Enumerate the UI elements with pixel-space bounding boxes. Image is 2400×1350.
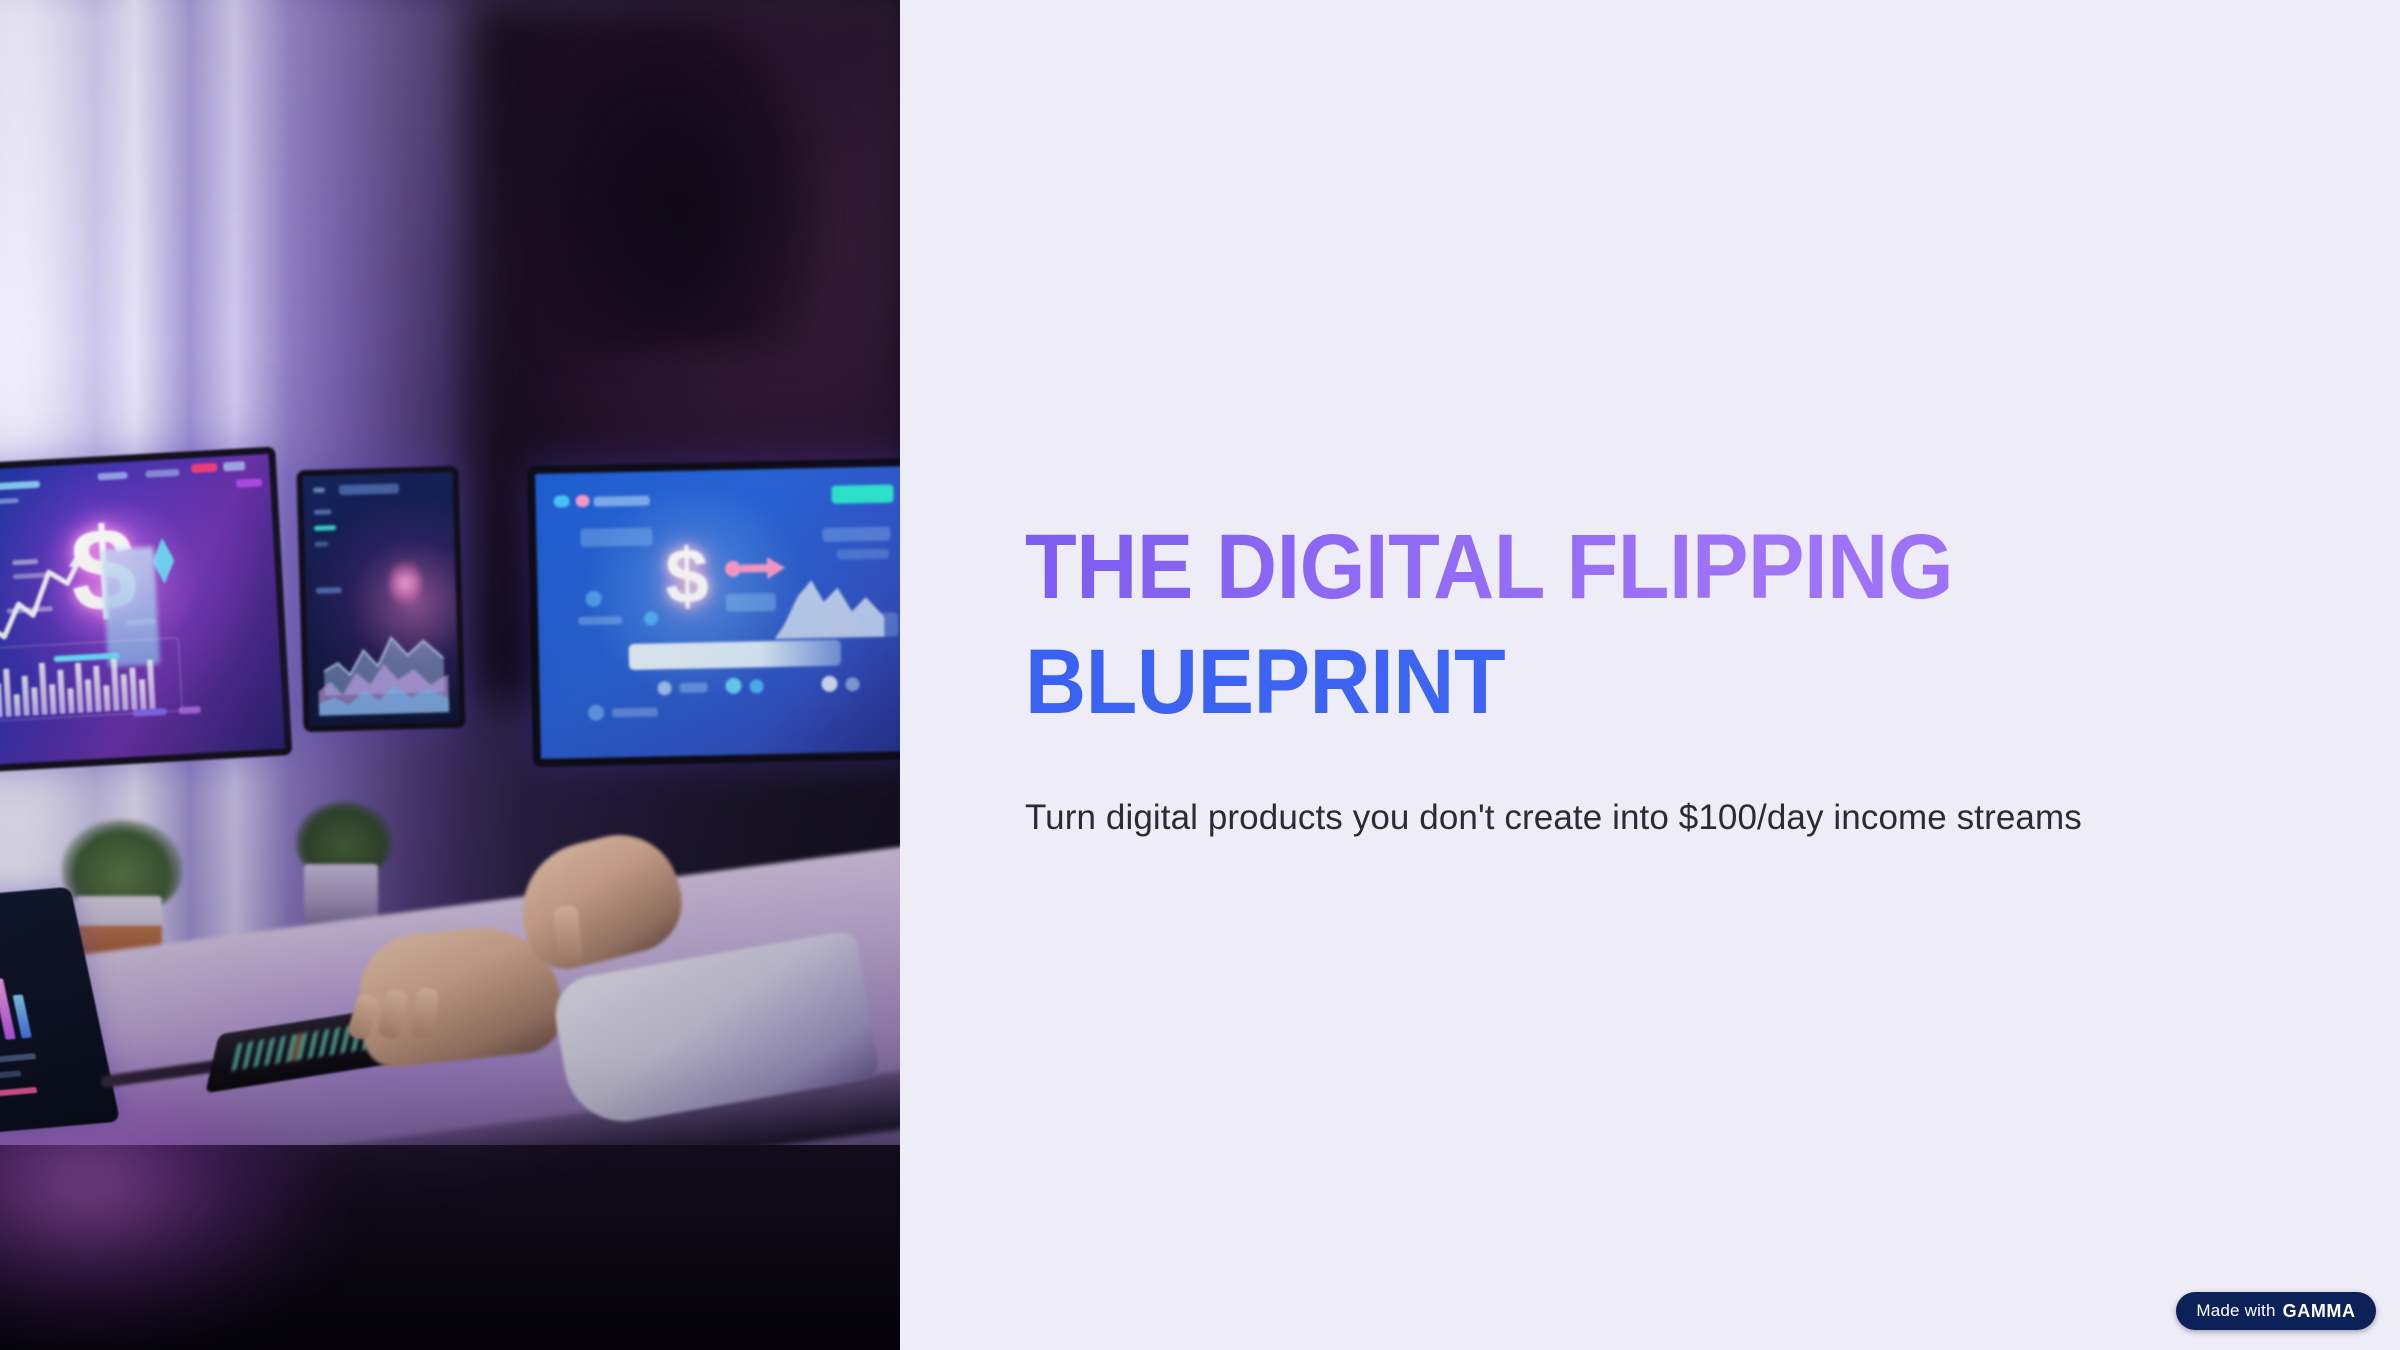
monitor-three-icon-dot	[749, 679, 763, 693]
monitor-three-ui-bar	[594, 496, 650, 507]
monitor-three-ui-bar	[578, 616, 622, 625]
badge-made-with-label: Made with	[2196, 1301, 2275, 1321]
monitor-three-icon-dot	[657, 681, 671, 695]
background-plant-silhouette	[530, 10, 830, 350]
monitor-two-ui-bar	[314, 525, 336, 531]
title-line-2: BLUEPRINT	[1025, 625, 2230, 740]
monitor-three-icon-dot	[845, 677, 859, 691]
monitor-two-ui-bar	[313, 509, 331, 515]
tablet-bar	[0, 978, 16, 1040]
monitor-three-ui-bar	[679, 682, 707, 693]
monitor-one-ui-bar	[179, 706, 201, 714]
monitor-three-panel	[822, 527, 890, 542]
tablet-bar	[13, 994, 32, 1038]
monitor-three-icon-dot	[725, 678, 741, 694]
monitor-one-ui-bar	[0, 498, 19, 505]
monitor-three-accent-button	[831, 484, 893, 503]
title-line-1: THE DIGITAL FLIPPING	[1025, 510, 2230, 625]
monitor-two-pink-glow	[389, 557, 422, 610]
content-panel: THE DIGITAL FLIPPING BLUEPRINT Turn digi…	[900, 0, 2400, 1350]
tablet-ui-bar	[0, 1053, 36, 1064]
made-with-gamma-badge[interactable]: Made with GAMMA	[2176, 1292, 2376, 1330]
monitor-one-ui-bar	[145, 469, 179, 478]
monitor-three-panel	[726, 593, 776, 612]
monitor-two-ui-bar	[314, 541, 328, 546]
monitor-three-panel	[860, 612, 898, 637]
monitor-one-ui-bar	[236, 478, 262, 487]
slide-root: $	[0, 0, 2400, 1350]
tablet-ui-bar	[0, 1070, 22, 1079]
monitor-one-ui-bar	[223, 461, 245, 471]
monitor-three-avatar	[554, 495, 570, 507]
monitor-two-ui-bar	[316, 587, 342, 594]
subtitle: Turn digital products you don't create i…	[1025, 795, 2345, 841]
monitor-one: $	[0, 446, 292, 772]
monitor-three-icon-dot	[588, 705, 604, 721]
monitor-three-ui-bar	[837, 549, 889, 560]
page-title: THE DIGITAL FLIPPING BLUEPRINT	[1025, 510, 2335, 740]
monitor-one-status-chip	[191, 463, 217, 473]
hero-image: $	[0, 0, 900, 1350]
monitor-three-icon-dot	[644, 611, 658, 625]
monitor-one-ui-bar	[0, 481, 40, 491]
monitor-two	[296, 466, 465, 732]
monitor-three-progress-bar[interactable]	[629, 640, 841, 670]
tablet-ui-bar	[0, 1087, 37, 1097]
monitor-three: $	[527, 458, 900, 767]
monitor-one-ui-bar	[97, 472, 127, 481]
monitor-three-ui-bar	[612, 707, 658, 717]
monitor-two-lower-chart	[317, 648, 449, 716]
monitor-one-ui-bar	[133, 708, 167, 717]
badge-gamma-wordmark: GAMMA	[2283, 1301, 2356, 1322]
monitor-two-ui-bar	[313, 488, 325, 493]
monitor-two-ui-bar	[339, 483, 399, 495]
monitor-three-icon-dot	[586, 591, 602, 607]
monitor-three-avatar	[576, 495, 590, 507]
monitor-three-panel	[580, 528, 652, 548]
dollar-sign-icon: $	[664, 536, 709, 615]
monitor-three-icon-dot	[821, 676, 837, 692]
